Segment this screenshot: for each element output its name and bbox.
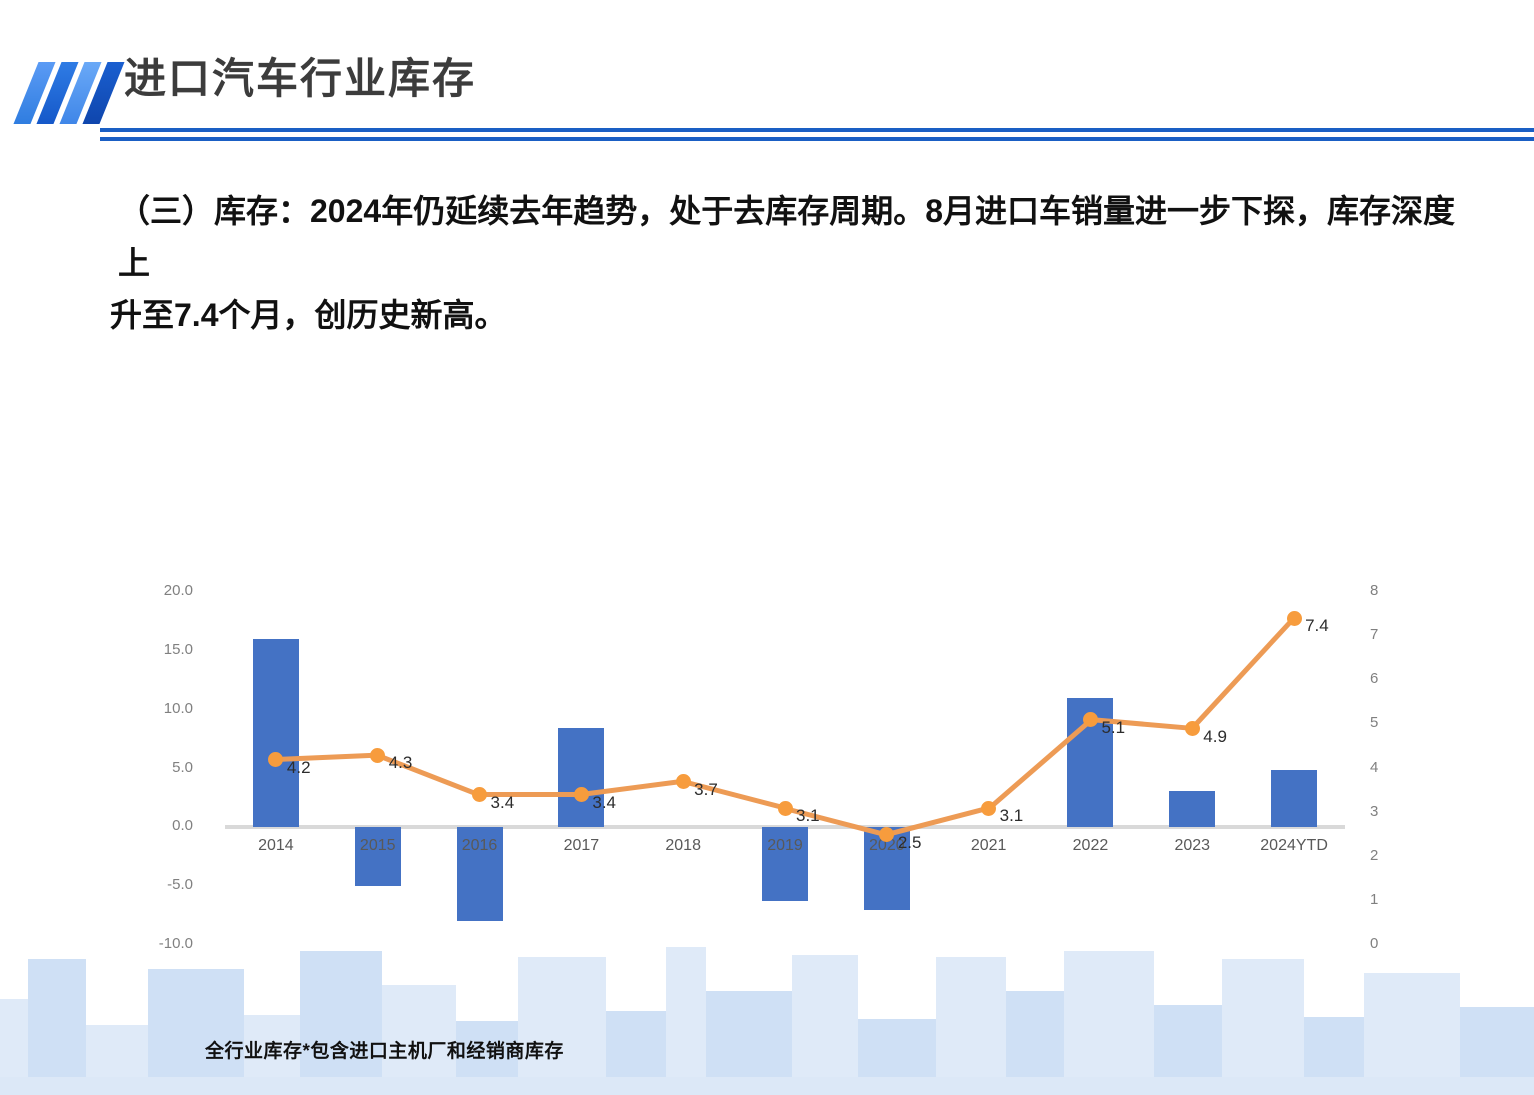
skyline-building	[1304, 1017, 1364, 1077]
skyline-building	[1460, 1007, 1534, 1077]
line-data-label: 4.3	[389, 753, 413, 773]
y-axis-tick-left: 15.0	[164, 641, 193, 658]
inventory-trend-chart: 2014-2024年进口汽车行业库存趋势 进销差-万辆 库存深度-月 进销差-万…	[0, 380, 1534, 1000]
line-data-label: 4.9	[1203, 727, 1227, 747]
skyline-building	[1006, 991, 1064, 1077]
header-divider-line-top	[100, 128, 1534, 132]
line-data-label: 3.1	[1000, 806, 1024, 826]
y-axis-tick-right: 4	[1370, 759, 1378, 776]
x-axis-tick: 2024YTD	[1234, 837, 1354, 855]
y-axis-tick-right: 0	[1370, 935, 1378, 952]
line-data-label: 2.5	[898, 833, 922, 853]
line-data-point	[1185, 721, 1200, 736]
footnote: 全行业库存*包含进口主机厂和经销商库存	[205, 1036, 564, 1063]
chart-bar	[1271, 770, 1317, 828]
skyline-building	[706, 991, 792, 1077]
plot-area: 20.015.010.05.00.0-5.0-10.08765432102014…	[225, 592, 1345, 945]
skyline-building	[1154, 1005, 1222, 1077]
y-axis-tick-right: 6	[1370, 670, 1378, 687]
y-axis-tick-right: 8	[1370, 582, 1378, 599]
chart-bar	[355, 827, 401, 886]
y-axis-tick-left: 5.0	[172, 759, 193, 776]
y-axis-tick-right: 1	[1370, 891, 1378, 908]
chart-bar	[253, 639, 299, 827]
line-data-point	[676, 774, 691, 789]
y-axis-tick-left: -10.0	[159, 935, 193, 952]
slanted-bars-logo-icon	[22, 62, 118, 124]
line-data-label: 5.1	[1101, 718, 1125, 738]
subtitle-paragraph: （三）库存：2024年仍延续去年趋势，处于去库存周期。8月进口车销量进一步下探，…	[110, 186, 1470, 341]
page-title: 进口汽车行业库存	[124, 58, 476, 100]
skyline-building	[858, 1019, 936, 1077]
skyline-base	[0, 1077, 1534, 1095]
y-axis-tick-left: 0.0	[172, 817, 193, 834]
y-axis-tick-left: -5.0	[167, 876, 193, 893]
line-data-label: 3.7	[694, 780, 718, 800]
line-data-point	[370, 748, 385, 763]
line-segment	[1190, 617, 1295, 731]
line-data-point	[778, 801, 793, 816]
line-data-point	[1287, 611, 1302, 626]
y-axis-tick-right: 3	[1370, 803, 1378, 820]
line-data-label: 3.4	[491, 793, 515, 813]
y-axis-tick-left: 10.0	[164, 700, 193, 717]
line-data-label: 7.4	[1305, 616, 1329, 636]
skyline-building	[606, 1011, 666, 1077]
line-data-point	[981, 801, 996, 816]
skyline-building	[86, 1025, 148, 1077]
y-axis-tick-right: 7	[1370, 626, 1378, 643]
chart-bar	[1169, 791, 1215, 827]
y-axis-tick-right: 2	[1370, 847, 1378, 864]
line-data-point	[472, 787, 487, 802]
line-data-label: 3.4	[592, 793, 616, 813]
y-axis-tick-right: 5	[1370, 714, 1378, 731]
line-data-label: 3.1	[796, 806, 820, 826]
subtitle-line-2: 升至7.4个月，创历史新高。	[110, 290, 1470, 342]
header-divider-line-bottom	[100, 137, 1534, 141]
y-axis-tick-left: 20.0	[164, 582, 193, 599]
slide-header: 进口汽车行业库存	[0, 0, 1534, 150]
line-data-label: 4.2	[287, 758, 311, 778]
subtitle-line-1: （三）库存：2024年仍延续去年趋势，处于去库存周期。8月进口车销量进一步下探，…	[110, 186, 1470, 290]
